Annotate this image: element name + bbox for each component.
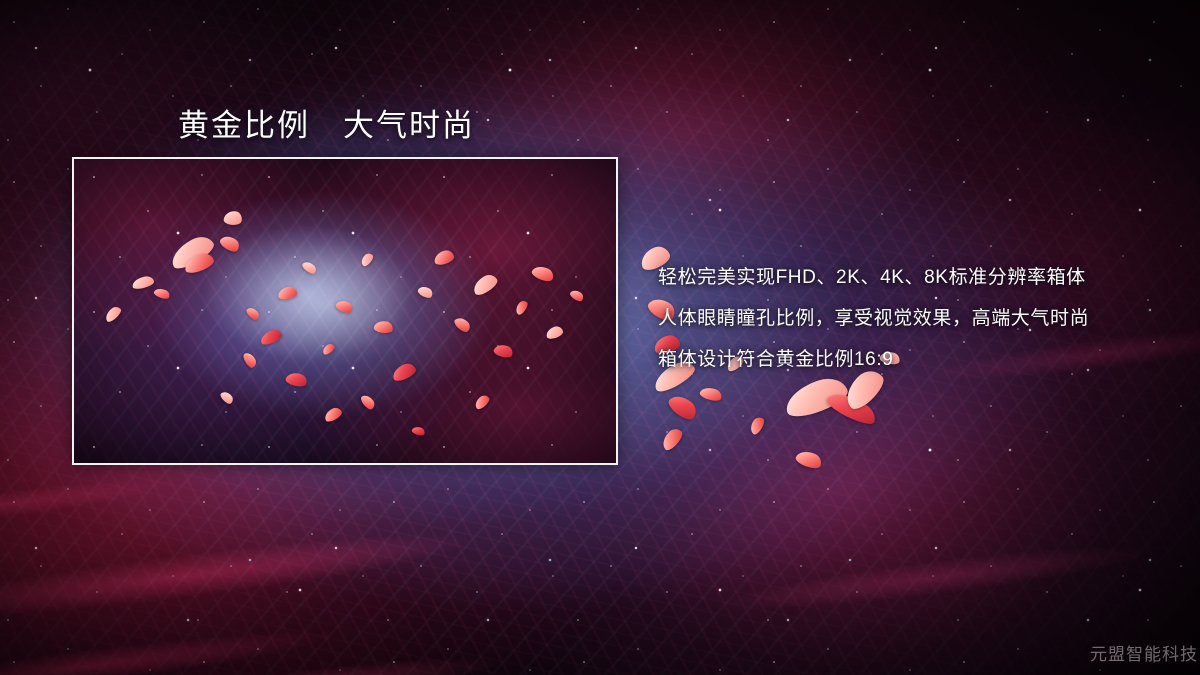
flower-petal-icon: [659, 426, 686, 453]
description-line: 箱体设计符合黄金比例16:9: [658, 339, 1178, 380]
flower-petal-icon: [666, 390, 701, 423]
flower-petal-icon: [824, 387, 879, 429]
flower-petal-icon: [794, 448, 824, 472]
flower-petal-icon: [699, 385, 724, 403]
flower-petal-icon: [747, 415, 766, 436]
feature-description-block: 轻松完美实现FHD、2K、4K、8K标准分辨率箱体 人体眼睛瞳孔比例，享受视觉效…: [658, 257, 1178, 380]
description-line: 人体眼睛瞳孔比例，享受视觉效果，高端大气时尚: [658, 298, 1178, 339]
presentation-slide: 黄金比例 大气时尚 轻松完美实现FHD、2K、4K、8K标准分辨率箱体 人体眼睛…: [0, 0, 1200, 675]
company-watermark: 元盟智能科技: [1090, 640, 1198, 665]
description-line: 轻松完美实现FHD、2K、4K、8K标准分辨率箱体: [658, 257, 1178, 298]
flower-petal-icon: [781, 373, 851, 421]
